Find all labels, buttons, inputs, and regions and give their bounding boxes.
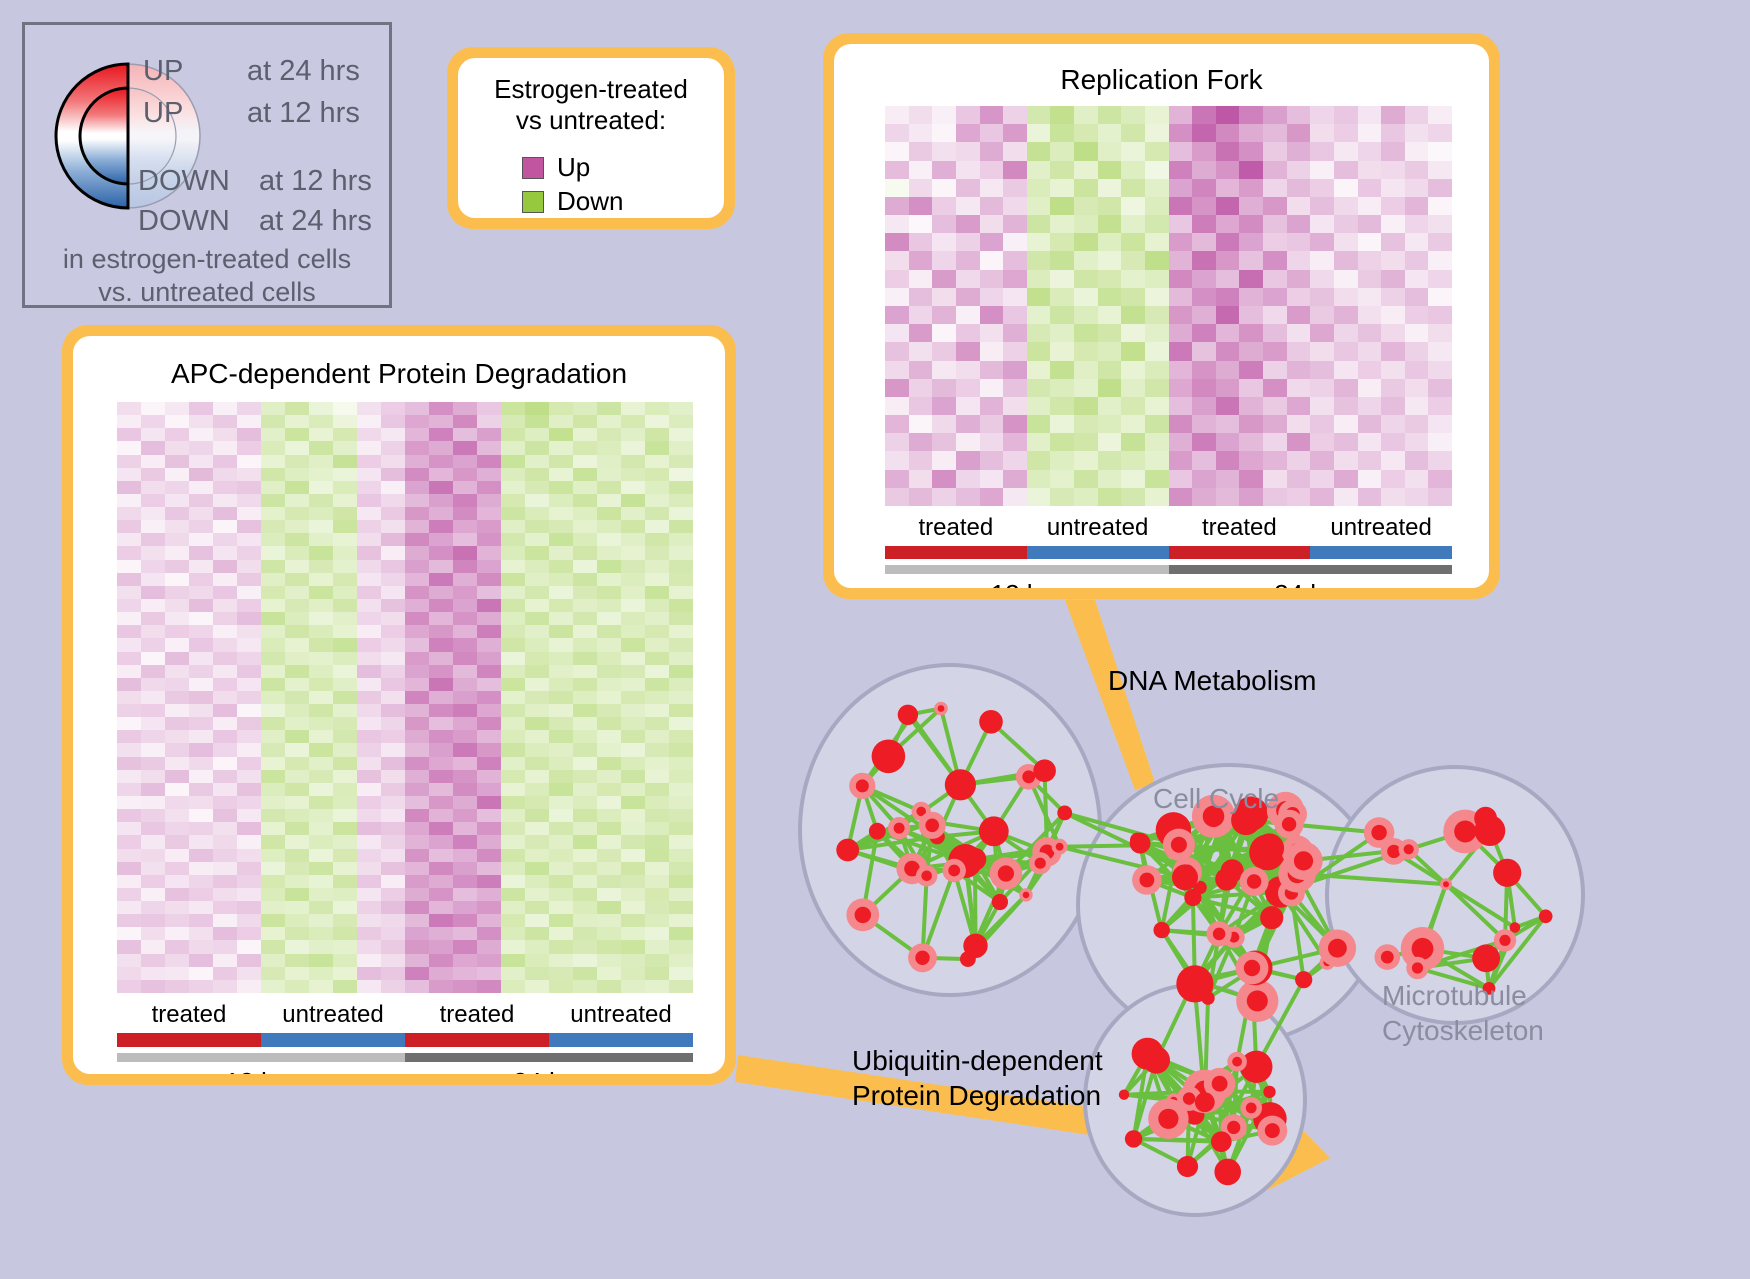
heatmap-cell	[477, 901, 501, 914]
heatmap-cell	[189, 940, 213, 953]
network-node[interactable]	[1019, 888, 1032, 901]
network-node[interactable]	[1143, 1047, 1170, 1074]
heatmap-cell	[573, 560, 597, 573]
network-node[interactable]	[1172, 864, 1198, 890]
heatmap-cell	[1263, 179, 1287, 197]
heatmap-cell	[141, 507, 165, 520]
heatmap-cell	[621, 415, 645, 428]
heatmap-cell	[621, 914, 645, 927]
heatmap-cell	[405, 573, 429, 586]
network-node[interactable]	[1472, 944, 1500, 972]
network-node[interactable]	[906, 711, 916, 721]
heatmap-cell	[429, 704, 453, 717]
heatmap-cell	[141, 455, 165, 468]
heatmap-cell	[1334, 179, 1358, 197]
heatmap-cell	[453, 638, 477, 651]
heatmap-cell	[932, 251, 956, 269]
heatmap-cell	[1381, 470, 1405, 488]
heatmap-cell	[141, 560, 165, 573]
network-node[interactable]	[990, 857, 1023, 890]
heatmap-cell	[573, 770, 597, 783]
heatmap-cell	[980, 215, 1004, 233]
heatmap-cell	[165, 862, 189, 875]
heatmap-cell	[1216, 161, 1240, 179]
heatmap-cell	[429, 638, 453, 651]
sample-time-label: 12 hrs	[885, 579, 1169, 588]
heatmap-cell	[141, 770, 165, 783]
heatmap-cell	[549, 743, 573, 756]
legend-label-up: Up	[557, 152, 590, 183]
network-node[interactable]	[1227, 1052, 1247, 1072]
heatmap-cell	[381, 665, 405, 678]
heatmap-cell	[309, 980, 333, 993]
heatmap-cell	[597, 402, 621, 415]
heatmap-cell	[357, 599, 381, 612]
network-node[interactable]	[1176, 965, 1213, 1002]
heatmap-cell	[1405, 361, 1429, 379]
network-node[interactable]	[919, 812, 946, 839]
heatmap-cell	[213, 507, 237, 520]
heatmap-cell	[453, 888, 477, 901]
heatmap-cell	[309, 743, 333, 756]
heatmap-cell	[429, 862, 453, 875]
heatmap-cell	[1239, 251, 1263, 269]
heatmap-cell	[381, 612, 405, 625]
heatmap-cell	[645, 783, 669, 796]
heatmap-cell	[1428, 361, 1452, 379]
heatmap-cell	[645, 428, 669, 441]
network-node[interactable]	[1399, 839, 1419, 859]
network-node[interactable]	[934, 702, 948, 716]
heatmap-cell	[213, 875, 237, 888]
heatmap-cell	[549, 586, 573, 599]
heatmap-cell	[189, 914, 213, 927]
heatmap-cell	[261, 455, 285, 468]
key-caption-line2: vs. untreated cells	[25, 276, 389, 309]
heatmap-cell	[477, 573, 501, 586]
heatmap-cell	[165, 546, 189, 559]
heatmap-cell	[1405, 161, 1429, 179]
heatmap-cell	[237, 940, 261, 953]
heatmap-cell	[237, 507, 261, 520]
heatmap-cell	[453, 940, 477, 953]
heatmap-cell	[1050, 161, 1074, 179]
heatmap-cell	[405, 717, 429, 730]
heatmap-cell	[381, 599, 405, 612]
heatmap-cell	[501, 638, 525, 651]
network-node[interactable]	[1475, 815, 1506, 846]
heatmap-cell	[477, 862, 501, 875]
heatmap-cell	[1169, 142, 1193, 160]
heatmap-cell	[573, 743, 597, 756]
heatmap-cell	[980, 251, 1004, 269]
heatmap-cell	[980, 161, 1004, 179]
heatmap-cell	[980, 142, 1004, 160]
network-node[interactable]	[979, 816, 1009, 846]
heatmap-cell	[189, 546, 213, 559]
heatmap-cell	[1358, 233, 1382, 251]
heatmap-cell	[1145, 433, 1169, 451]
heatmap-cell	[1334, 451, 1358, 469]
network-node[interactable]	[1195, 1092, 1215, 1112]
heatmap-cell	[573, 796, 597, 809]
network-node[interactable]	[1236, 980, 1278, 1022]
heatmap-cell	[525, 704, 549, 717]
heatmap-cell	[117, 678, 141, 691]
network-node[interactable]	[992, 894, 1008, 910]
heatmap-cell	[1050, 342, 1074, 360]
heatmap-cell	[213, 940, 237, 953]
heatmap-cell	[261, 849, 285, 862]
heatmap-cell	[261, 652, 285, 665]
heatmap-cell	[669, 533, 693, 546]
heatmap-cell	[141, 665, 165, 678]
heatmap-cell	[165, 691, 189, 704]
heatmap-cell	[261, 901, 285, 914]
heatmap-cell	[333, 730, 357, 743]
heatmap-cell	[573, 980, 597, 993]
heatmap-cell	[525, 665, 549, 678]
heatmap-cell	[453, 757, 477, 770]
heatmap-cell	[357, 743, 381, 756]
network-node[interactable]	[846, 899, 879, 932]
heatmap-cell	[333, 455, 357, 468]
heatmap-cell	[189, 783, 213, 796]
heatmap-cell	[237, 967, 261, 980]
heatmap-cell	[477, 612, 501, 625]
heatmap-cell	[405, 586, 429, 599]
heatmap-cell	[477, 652, 501, 665]
heatmap-cell	[501, 914, 525, 927]
heatmap-cell	[645, 481, 669, 494]
heatmap-cell	[1263, 488, 1287, 506]
cluster-label-dna-metabolism: DNA Metabolism	[1108, 665, 1317, 697]
heatmap-cell	[645, 625, 669, 638]
heatmap-cell	[1310, 233, 1334, 251]
heatmap-cell	[932, 379, 956, 397]
heatmap-cell	[525, 441, 549, 454]
network-node[interactable]	[869, 823, 886, 840]
network-node[interactable]	[1539, 910, 1553, 924]
heatmap-cell	[261, 927, 285, 940]
heatmap-cell	[1239, 306, 1263, 324]
heatmap-cell	[1310, 161, 1334, 179]
heatmap-cell	[1216, 288, 1240, 306]
heatmap-cell	[1050, 270, 1074, 288]
network-node[interactable]	[1125, 1130, 1142, 1147]
heatmap-cell	[885, 251, 909, 269]
heatmap-cell	[909, 161, 933, 179]
heatmap-cell	[573, 875, 597, 888]
network-node[interactable]	[1207, 921, 1232, 946]
heatmap-cell	[549, 783, 573, 796]
network-node[interactable]	[1052, 839, 1068, 855]
heatmap-cell	[1121, 324, 1145, 342]
heatmap-cell	[1310, 106, 1334, 124]
heatmap-cell	[1263, 433, 1287, 451]
network-node[interactable]	[1260, 906, 1283, 929]
heatmap-cell	[381, 441, 405, 454]
heatmap-cell	[525, 678, 549, 691]
heatmap-cell	[261, 704, 285, 717]
heatmap-cell	[141, 980, 165, 993]
heatmap-cell	[621, 770, 645, 783]
heatmap-cell	[669, 494, 693, 507]
heatmap-cell	[1169, 470, 1193, 488]
heatmap-cell	[261, 533, 285, 546]
apc-treatment-bar	[117, 1033, 693, 1047]
heatmap-cell	[117, 415, 141, 428]
network-node[interactable]	[1295, 971, 1312, 988]
heatmap-cell	[165, 665, 189, 678]
heatmap-cell	[525, 888, 549, 901]
heatmap-cell	[1405, 470, 1429, 488]
network-node[interactable]	[1029, 852, 1051, 874]
network-node[interactable]	[836, 839, 859, 862]
heatmap-cell	[429, 455, 453, 468]
heatmap-cell	[1358, 251, 1382, 269]
network-node[interactable]	[1132, 865, 1162, 895]
heatmap-cell	[669, 625, 693, 638]
heatmap-cell	[165, 599, 189, 612]
heatmap-cell	[621, 468, 645, 481]
heatmap-cell	[381, 652, 405, 665]
heatmap-cell	[1381, 361, 1405, 379]
network-node[interactable]	[963, 934, 987, 958]
network-node[interactable]	[849, 773, 875, 799]
heatmap-cell	[213, 783, 237, 796]
network-node[interactable]	[1440, 878, 1452, 890]
heatmap-cell	[1239, 161, 1263, 179]
network-node[interactable]	[1255, 833, 1284, 862]
network-node[interactable]	[1319, 930, 1356, 967]
heatmap-cell	[261, 560, 285, 573]
heatmap-cell	[1145, 161, 1169, 179]
heatmap-cell	[261, 967, 285, 980]
network-node[interactable]	[1284, 842, 1322, 880]
network-node[interactable]	[1211, 1131, 1232, 1152]
heatmap-cell	[525, 980, 549, 993]
network-node[interactable]	[1033, 759, 1056, 782]
heatmap-cell	[597, 743, 621, 756]
heatmap-cell	[1287, 415, 1311, 433]
heatmap-cell	[357, 888, 381, 901]
network-node[interactable]	[1163, 829, 1195, 861]
heatmap-cell	[117, 468, 141, 481]
heatmap-cell	[1027, 488, 1051, 506]
heatmap-cell	[1287, 324, 1311, 342]
heatmap-cell	[1050, 106, 1074, 124]
network-node[interactable]	[1375, 944, 1401, 970]
heatmap-cell	[1287, 397, 1311, 415]
color-key-box: UP at 24 hrs UP at 12 hrs DOWN at 12 hrs…	[22, 22, 392, 308]
heatmap-cell	[1287, 433, 1311, 451]
network-node[interactable]	[908, 943, 937, 972]
network-node[interactable]	[1154, 922, 1170, 938]
sample-time-label: 12 hrs	[117, 1067, 405, 1074]
heatmap-cell	[237, 625, 261, 638]
heatmap-cell	[429, 573, 453, 586]
apc-degradation-title: APC-dependent Protein Degradation	[73, 358, 725, 390]
heatmap-cell	[309, 481, 333, 494]
heatmap-cell	[645, 875, 669, 888]
heatmap-cell	[549, 573, 573, 586]
heatmap-cell	[549, 520, 573, 533]
sample-treatment-segment	[261, 1033, 405, 1047]
network-node[interactable]	[1240, 867, 1269, 896]
heatmap-cell	[381, 783, 405, 796]
heatmap-cell	[357, 770, 381, 783]
heatmap-cell	[141, 520, 165, 533]
network-node[interactable]	[1493, 859, 1521, 887]
network-node[interactable]	[1257, 1116, 1287, 1146]
heatmap-cell	[1216, 197, 1240, 215]
heatmap-cell	[549, 835, 573, 848]
heatmap-cell	[1358, 379, 1382, 397]
heatmap-cell	[885, 324, 909, 342]
heatmap-cell	[429, 927, 453, 940]
heatmap-cell	[645, 665, 669, 678]
heatmap-cell	[1098, 342, 1122, 360]
heatmap-cell	[980, 415, 1004, 433]
heatmap-cell	[1027, 161, 1051, 179]
network-node[interactable]	[916, 865, 937, 886]
heatmap-cell	[1027, 233, 1051, 251]
heatmap-cell	[165, 652, 189, 665]
legend-swatch-down	[522, 191, 544, 213]
heatmap-cell	[932, 142, 956, 160]
heatmap-cell	[645, 849, 669, 862]
heatmap-cell	[1145, 197, 1169, 215]
heatmap-cell	[1334, 233, 1358, 251]
heatmap-cell	[1169, 415, 1193, 433]
heatmap-cell	[1098, 415, 1122, 433]
heatmap-cell	[165, 770, 189, 783]
heatmap-cell	[1334, 379, 1358, 397]
heatmap-cell	[141, 862, 165, 875]
heatmap-cell	[261, 862, 285, 875]
heatmap-cell	[525, 927, 549, 940]
heatmap-cell	[1192, 361, 1216, 379]
heatmap-cell	[621, 428, 645, 441]
heatmap-cell	[381, 770, 405, 783]
heatmap-cell	[309, 402, 333, 415]
heatmap-cell	[1263, 342, 1287, 360]
network-node[interactable]	[945, 769, 976, 800]
heatmap-cell	[525, 822, 549, 835]
heatmap-cell	[909, 106, 933, 124]
network-node[interactable]	[1406, 957, 1428, 979]
heatmap-cell	[141, 546, 165, 559]
network-node[interactable]	[943, 859, 966, 882]
network-node[interactable]	[888, 817, 910, 839]
heatmap-cell	[1050, 451, 1074, 469]
heatmap-cell	[1192, 179, 1216, 197]
heatmap-cell	[357, 638, 381, 651]
heatmap-cell	[1334, 324, 1358, 342]
heatmap-cell	[1263, 306, 1287, 324]
heatmap-cell	[932, 106, 956, 124]
network-node[interactable]	[1494, 929, 1516, 951]
network-node[interactable]	[1119, 1090, 1129, 1100]
heatmap-cell	[357, 665, 381, 678]
heatmap-cell	[1263, 288, 1287, 306]
heatmap-cell	[453, 586, 477, 599]
heatmap-cell	[141, 494, 165, 507]
heatmap-cell	[429, 520, 453, 533]
heatmap-cell	[1169, 342, 1193, 360]
heatmap-cell	[597, 730, 621, 743]
heatmap-cell	[501, 770, 525, 783]
heatmap-cell	[645, 441, 669, 454]
network-node[interactable]	[979, 710, 1003, 734]
heatmap-cell	[1405, 106, 1429, 124]
heatmap-cell	[1216, 306, 1240, 324]
heatmap-cell	[501, 533, 525, 546]
heatmap-cell	[381, 809, 405, 822]
heatmap-cell	[453, 730, 477, 743]
network-node[interactable]	[1057, 806, 1072, 821]
heatmap-cell	[1074, 397, 1098, 415]
heatmap-cell	[1428, 251, 1452, 269]
heatmap-cell	[261, 888, 285, 901]
replication-fork-time-bar	[885, 565, 1452, 574]
heatmap-cell	[1287, 470, 1311, 488]
heatmap-cell	[285, 809, 309, 822]
heatmap-cell	[213, 704, 237, 717]
network-node[interactable]	[1130, 833, 1145, 848]
heatmap-cell	[1074, 488, 1098, 506]
heatmap-cell	[1405, 451, 1429, 469]
network-node[interactable]	[1215, 868, 1238, 891]
heatmap-cell	[237, 441, 261, 454]
network-node[interactable]	[1240, 1097, 1262, 1119]
network-node[interactable]	[1263, 1086, 1275, 1098]
heatmap-cell	[597, 914, 621, 927]
heatmap-cell	[429, 796, 453, 809]
heatmap-cell	[1358, 288, 1382, 306]
heatmap-cell	[141, 428, 165, 441]
heatmap-cell	[573, 730, 597, 743]
heatmap-cell	[237, 402, 261, 415]
heatmap-cell	[669, 967, 693, 980]
heatmap-cell	[597, 691, 621, 704]
heatmap-cell	[453, 520, 477, 533]
heatmap-cell	[1121, 161, 1145, 179]
heatmap-cell	[237, 783, 261, 796]
network-node[interactable]	[1177, 1156, 1198, 1177]
cluster-label-ubiquitin: Ubiquitin-dependent Protein Degradation	[852, 1043, 1103, 1113]
heatmap-cell	[1428, 233, 1452, 251]
heatmap-cell	[1287, 288, 1311, 306]
network-node[interactable]	[1236, 952, 1269, 985]
network-node[interactable]	[1148, 1099, 1188, 1139]
heatmap-cell	[1192, 306, 1216, 324]
heatmap-cell	[405, 783, 429, 796]
heatmap-cell	[453, 573, 477, 586]
heatmap-cell	[1003, 324, 1027, 342]
heatmap-cell	[237, 494, 261, 507]
network-node[interactable]	[872, 740, 906, 774]
heatmap-cell	[885, 306, 909, 324]
heatmap-cell	[621, 743, 645, 756]
heatmap-cell	[165, 901, 189, 914]
heatmap-cell	[980, 470, 1004, 488]
heatmap-cell	[669, 914, 693, 927]
heatmap-cell	[621, 835, 645, 848]
network-node[interactable]	[1214, 1159, 1241, 1186]
heatmap-cell	[261, 507, 285, 520]
